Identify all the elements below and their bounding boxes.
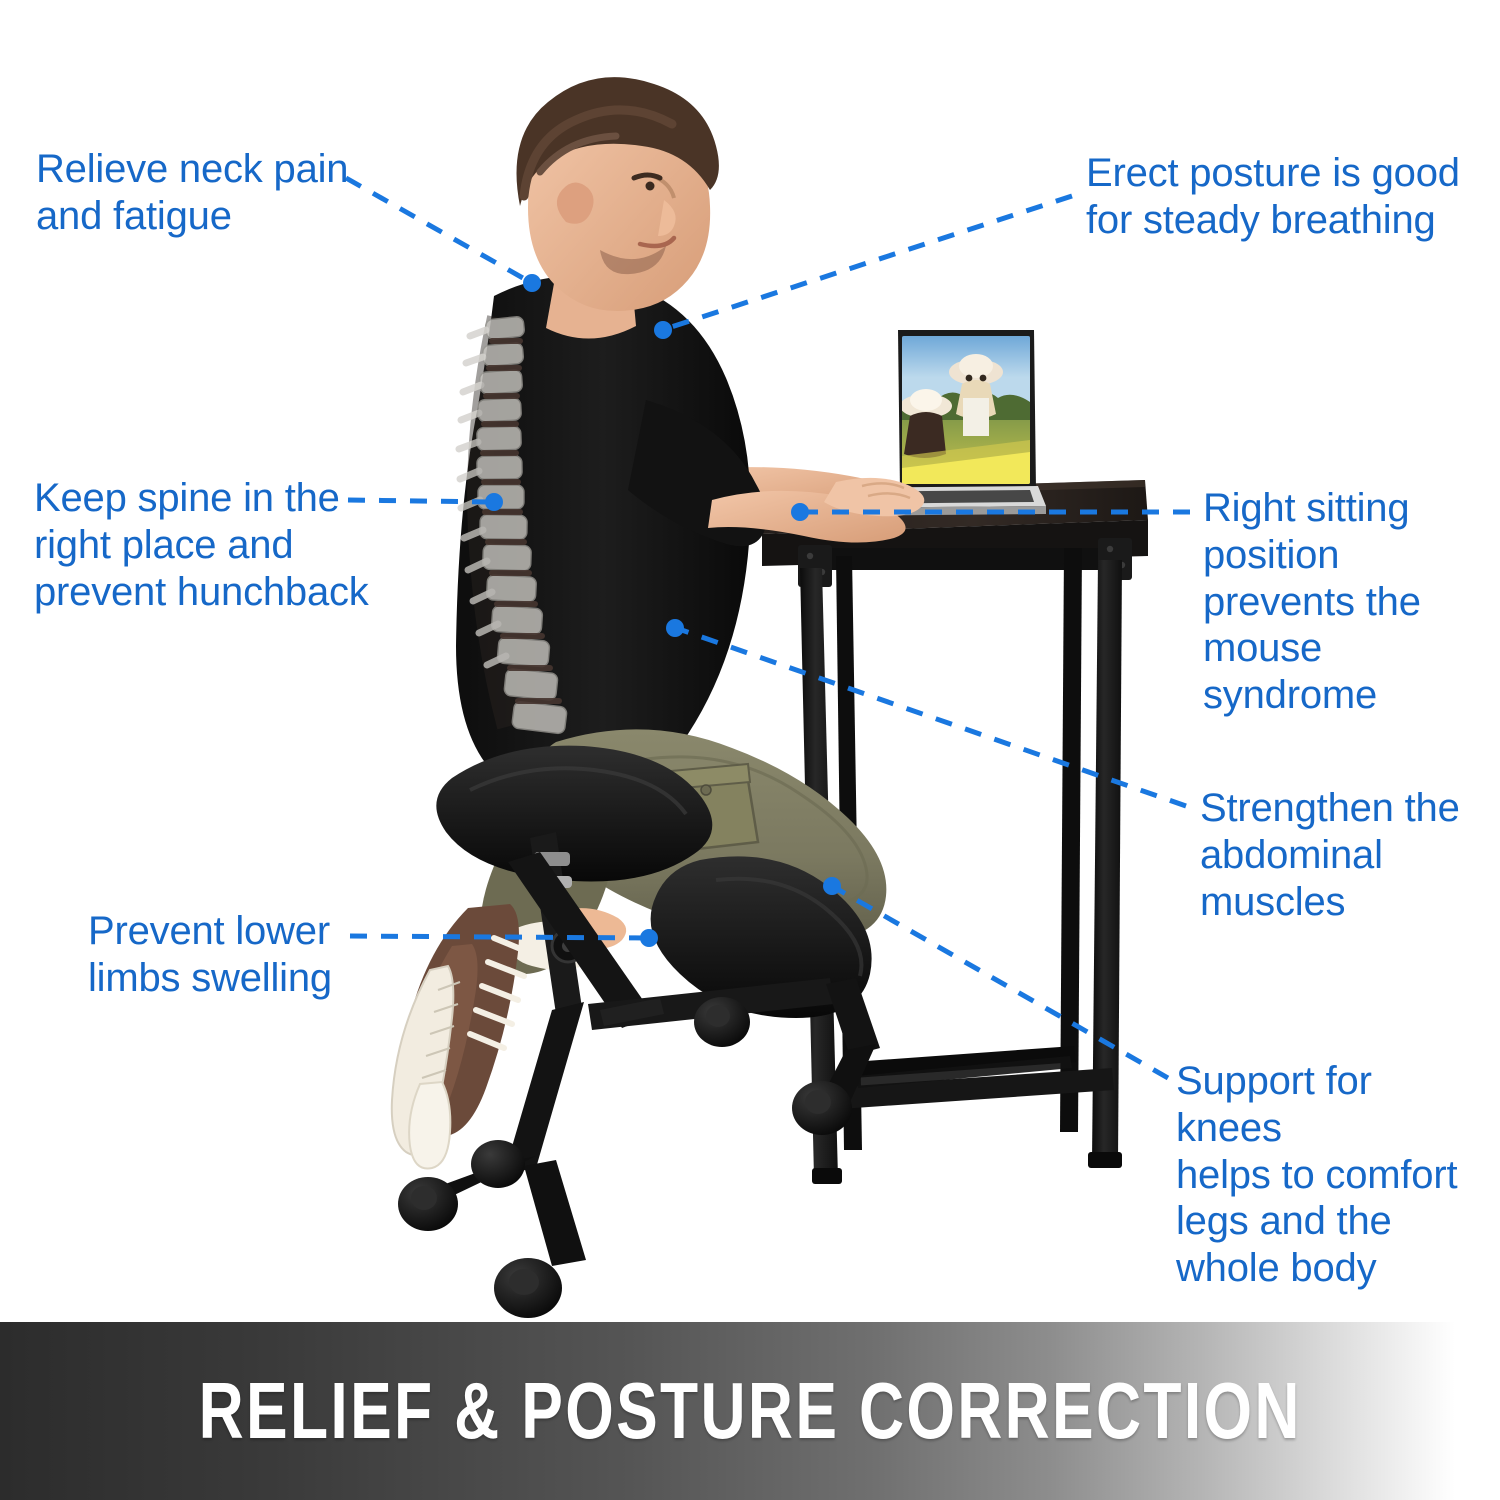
callout-prevent-lower-limbs: Prevent lower limbs swelling [88, 908, 388, 1002]
callout-keep-spine: Keep spine in the right place and preven… [34, 475, 374, 615]
infographic-canvas: Relieve neck pain and fatigue Erect post… [0, 0, 1500, 1500]
banner-headline: RELIEF & POSTURE CORRECTION [198, 1365, 1301, 1457]
callout-erect-posture: Erect posture is good for steady breathi… [1086, 150, 1466, 244]
laptop-screen-photo [900, 336, 1030, 484]
callout-relieve-neck-pain: Relieve neck pain and fatigue [36, 146, 366, 240]
sneaker [392, 904, 528, 1169]
callout-right-sitting-position: Right sitting position prevents the mous… [1203, 485, 1443, 719]
callout-strengthen-abdominal: Strengthen the abdominal muscles [1200, 785, 1460, 925]
callout-support-for-knees: Support for knees helps to comfort legs … [1176, 1058, 1476, 1292]
bottom-banner: RELIEF & POSTURE CORRECTION [0, 1322, 1500, 1500]
